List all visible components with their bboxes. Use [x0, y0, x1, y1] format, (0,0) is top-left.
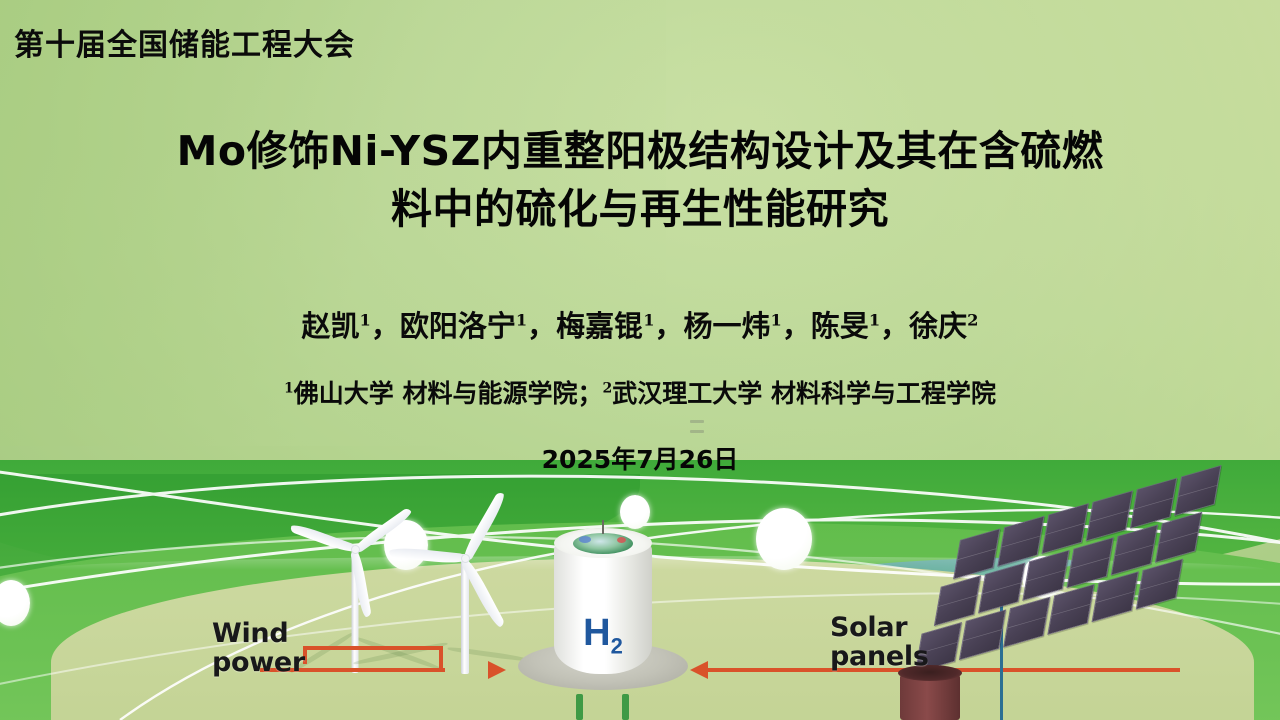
tank-leg — [576, 694, 583, 720]
presentation-slide: H2 Wind power Solar panels 第十届全国储能工程大会 M… — [0, 0, 1280, 720]
affiliation-text: 武汉理工大学 材料科学与工程学院 — [612, 379, 996, 408]
turbine-blade — [289, 522, 356, 555]
solar-panels-caption: Solar panels — [830, 614, 929, 671]
affiliation-marker: 2 — [603, 381, 613, 397]
author-affil-marker: 1 — [869, 310, 880, 329]
faint-artifact-mark — [690, 420, 704, 442]
wind-power-cable — [303, 646, 443, 650]
author-name: 赵凯 — [302, 309, 360, 343]
page-title: Mo修饰Ni-YSZ内重整阳极结构设计及其在含硫燃 料中的硫化与再生性能研究 — [60, 122, 1220, 238]
author-name: 徐庆 — [909, 309, 967, 343]
wind-power-caption: Wind power — [212, 620, 305, 677]
author-name: 陈旻 — [811, 309, 869, 343]
affiliation-marker: 1 — [284, 381, 294, 397]
tank-top-illustration — [573, 533, 633, 554]
author-affil-marker: 1 — [771, 310, 782, 329]
background-gradient-right — [691, 0, 1280, 504]
hydrogen-storage-tank: H2 — [540, 520, 666, 700]
wind-power-caption-line1: Wind — [212, 620, 305, 649]
turbine-shadow — [447, 646, 527, 662]
wind-flow-arrow — [488, 661, 506, 679]
affiliation-text: 佛山大学 材料与能源学院； — [294, 379, 603, 408]
author-name: 杨一炜 — [684, 309, 771, 343]
solar-flow-arrow — [690, 661, 708, 679]
artifact-dash — [690, 430, 704, 433]
author-separator: ， — [527, 309, 556, 343]
turbine-blade — [389, 546, 466, 565]
tank-antenna — [602, 520, 604, 534]
conference-banner: 第十届全国储能工程大会 — [14, 20, 355, 64]
author-list: 赵凯1，欧阳洛宁1，梅嘉锟1，杨一炜1，陈旻1，徐庆2 — [60, 303, 1220, 345]
h2-label: H2 — [540, 614, 666, 658]
h2-label-text: H — [583, 612, 610, 654]
author-name: 梅嘉锟 — [556, 309, 643, 343]
affiliation-list: 1佛山大学 材料与能源学院；2武汉理工大学 材料科学与工程学院 — [40, 374, 1240, 410]
author-affil-marker: 1 — [643, 310, 654, 329]
solar-panels-caption-line2: panels — [830, 643, 929, 672]
tank-leg — [622, 694, 629, 720]
author-affil-marker: 1 — [516, 310, 527, 329]
author-separator: ， — [371, 309, 400, 343]
presentation-date: 2025年7月26日 — [0, 440, 1280, 476]
author-separator: ， — [880, 309, 909, 343]
author-separator: ， — [782, 309, 811, 343]
author-affil-marker: 1 — [360, 310, 371, 329]
turbine-hub — [461, 554, 470, 563]
h2-label-subscript: 2 — [611, 634, 623, 659]
title-line-1: Mo修饰Ni-YSZ内重整阳极结构设计及其在含硫燃 — [60, 122, 1220, 180]
author-name: 欧阳洛宁 — [400, 309, 516, 343]
chimney-stack — [900, 672, 960, 720]
turbine-hub — [351, 545, 360, 554]
solar-panels-caption-line1: Solar — [830, 614, 929, 643]
wind-turbine-front — [400, 528, 530, 688]
author-affil-marker: 2 — [967, 310, 978, 329]
author-separator: ， — [654, 309, 683, 343]
artifact-dash — [690, 420, 704, 423]
network-node — [756, 508, 812, 570]
wind-power-caption-line2: power — [212, 649, 305, 678]
title-line-2: 料中的硫化与再生性能研究 — [60, 180, 1220, 238]
